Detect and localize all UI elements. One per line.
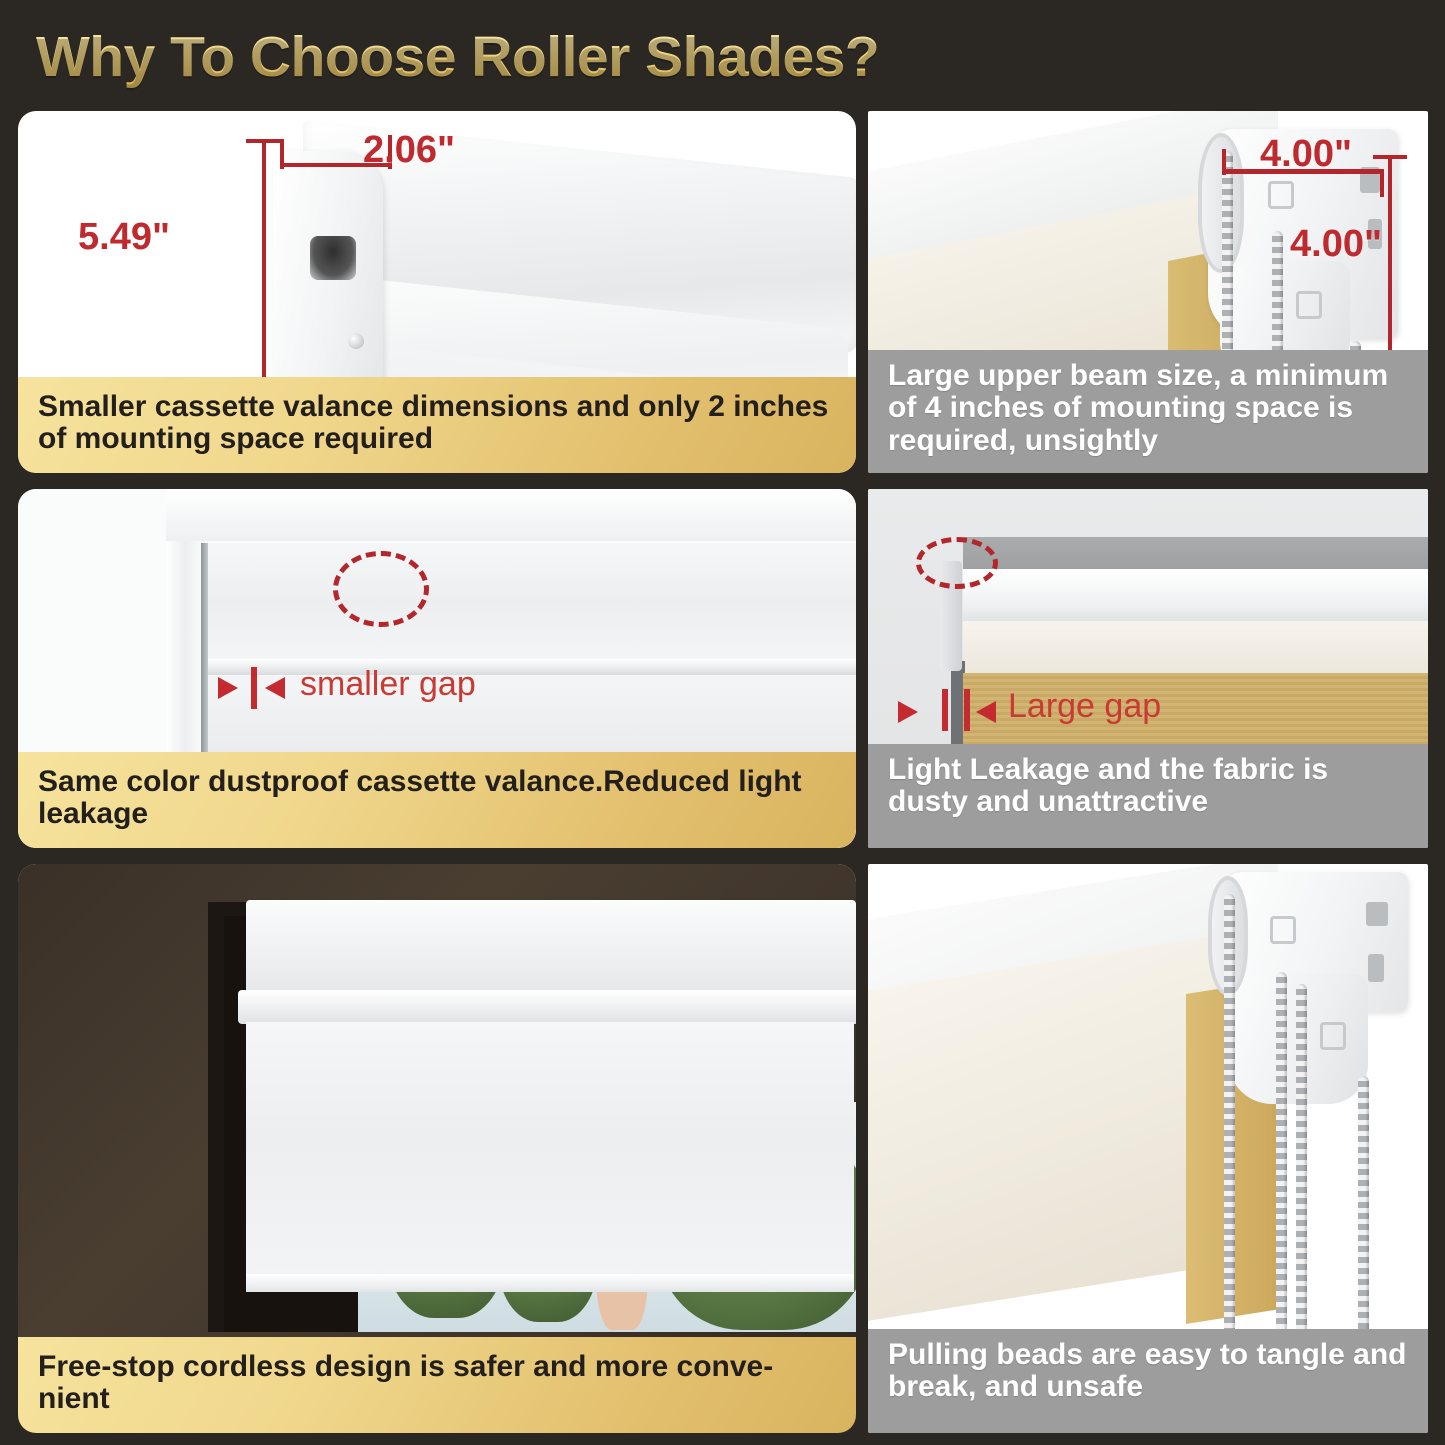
window-header-trim [166,489,856,541]
comparison-row-1: 2.06" 5.49" Smaller cassette valance dim… [0,103,1445,481]
caption-cordless-design: Free-stop cordless design is safer and m… [18,1337,856,1433]
gap-arrow-left-icon [976,701,996,723]
bracket-notch-1 [1366,902,1388,926]
gap-callout-label: Large gap [1008,687,1161,726]
gap-marker [251,667,257,709]
bracket-notch-2 [1368,954,1384,982]
caption-large-upper-beam: Large upper beam size, a minimum of 4 in… [868,350,1428,473]
panel-dustproof-valance: smaller gap Same color dustproof cassett… [18,489,856,848]
valance-face [206,543,856,661]
photo-bead-chains: Pulling beads are easy to tangle and bre… [868,864,1428,1433]
page-title: Why To Choose Roller Shades? [36,24,879,90]
photo-large-bracket: 4.00" 4.00" Large upper beam size, a min… [868,111,1428,473]
roller-end-ring [1198,133,1244,273]
beam-width-label: 4.00" [1260,133,1352,176]
gap-callout-label: smaller gap [300,665,476,704]
screw-icon [348,333,364,349]
bracket-logo-icon [1270,916,1296,944]
infographic-page: Why To Choose Roller Shades? [0,0,1445,1445]
gap-marker-right [964,689,970,731]
beam-lower-face [963,621,1428,673]
comparison-row-3: Free-stop cordless design is safer and m… [0,856,1445,1441]
bead-chain-3 [1296,984,1307,1334]
bracket-logo-icon [1268,181,1294,209]
bead-chain-1 [1224,894,1235,1334]
caption-smaller-cassette: Smaller cassette valance dimensions and … [18,377,856,473]
caption-light-leakage: Light Leakage and the fabric is dusty an… [868,744,1428,848]
cassette-lip [238,990,856,1024]
beam-height-label: 4.00" [1290,223,1382,266]
caption-dustproof-valance: Same color dustproof cassette valance.Re… [18,752,856,848]
highlight-ellipse-icon [333,551,429,627]
valance-slot-icon [310,236,356,280]
panel-smaller-cassette: 2.06" 5.49" Smaller cassette valance dim… [18,111,856,473]
panel-pulling-beads: Pulling beads are easy to tangle and bre… [868,864,1428,1433]
panel-cordless-design: Free-stop cordless design is safer and m… [18,864,856,1433]
photo-cassette-valance: 2.06" 5.49" Smaller cassette valance dim… [18,111,856,473]
bracket-logo-icon-2 [1296,291,1322,319]
width-dimension-label: 2.06" [363,129,455,172]
photo-light-leakage: Large gap Light Leakage and the fabric i… [868,489,1428,848]
comparison-grid: 2.06" 5.49" Smaller cassette valance dim… [0,103,1445,1441]
comparison-row-2: smaller gap Same color dustproof cassett… [0,481,1445,856]
bead-chain-2 [1276,972,1287,1334]
bracket-logo-icon-2 [1320,1022,1346,1050]
panel-large-upper-beam: 4.00" 4.00" Large upper beam size, a min… [868,111,1428,473]
upper-beam [963,569,1428,629]
bead-chain-4 [1358,1076,1369,1334]
gap-arrow-left-icon [265,677,285,699]
cassette-head [246,900,856,1000]
highlight-ellipse-icon [916,537,998,589]
bottom-rail [246,1274,854,1292]
height-dimension-label: 5.49" [78,216,170,259]
bead-chain-1 [1222,151,1233,381]
shade-fabric [246,1022,854,1280]
gap-marker-left [942,689,948,731]
caption-pulling-beads: Pulling beads are easy to tangle and bre… [868,1329,1428,1433]
panel-light-leakage: Large gap Light Leakage and the fabric i… [868,489,1428,848]
photo-room-window: Free-stop cordless design is safer and m… [18,864,856,1433]
photo-window-flush-valance: smaller gap Same color dustproof cassett… [18,489,856,848]
window-frame [208,902,848,1332]
gap-arrow-right-icon [898,701,918,723]
gap-arrow-right-icon [218,677,238,699]
